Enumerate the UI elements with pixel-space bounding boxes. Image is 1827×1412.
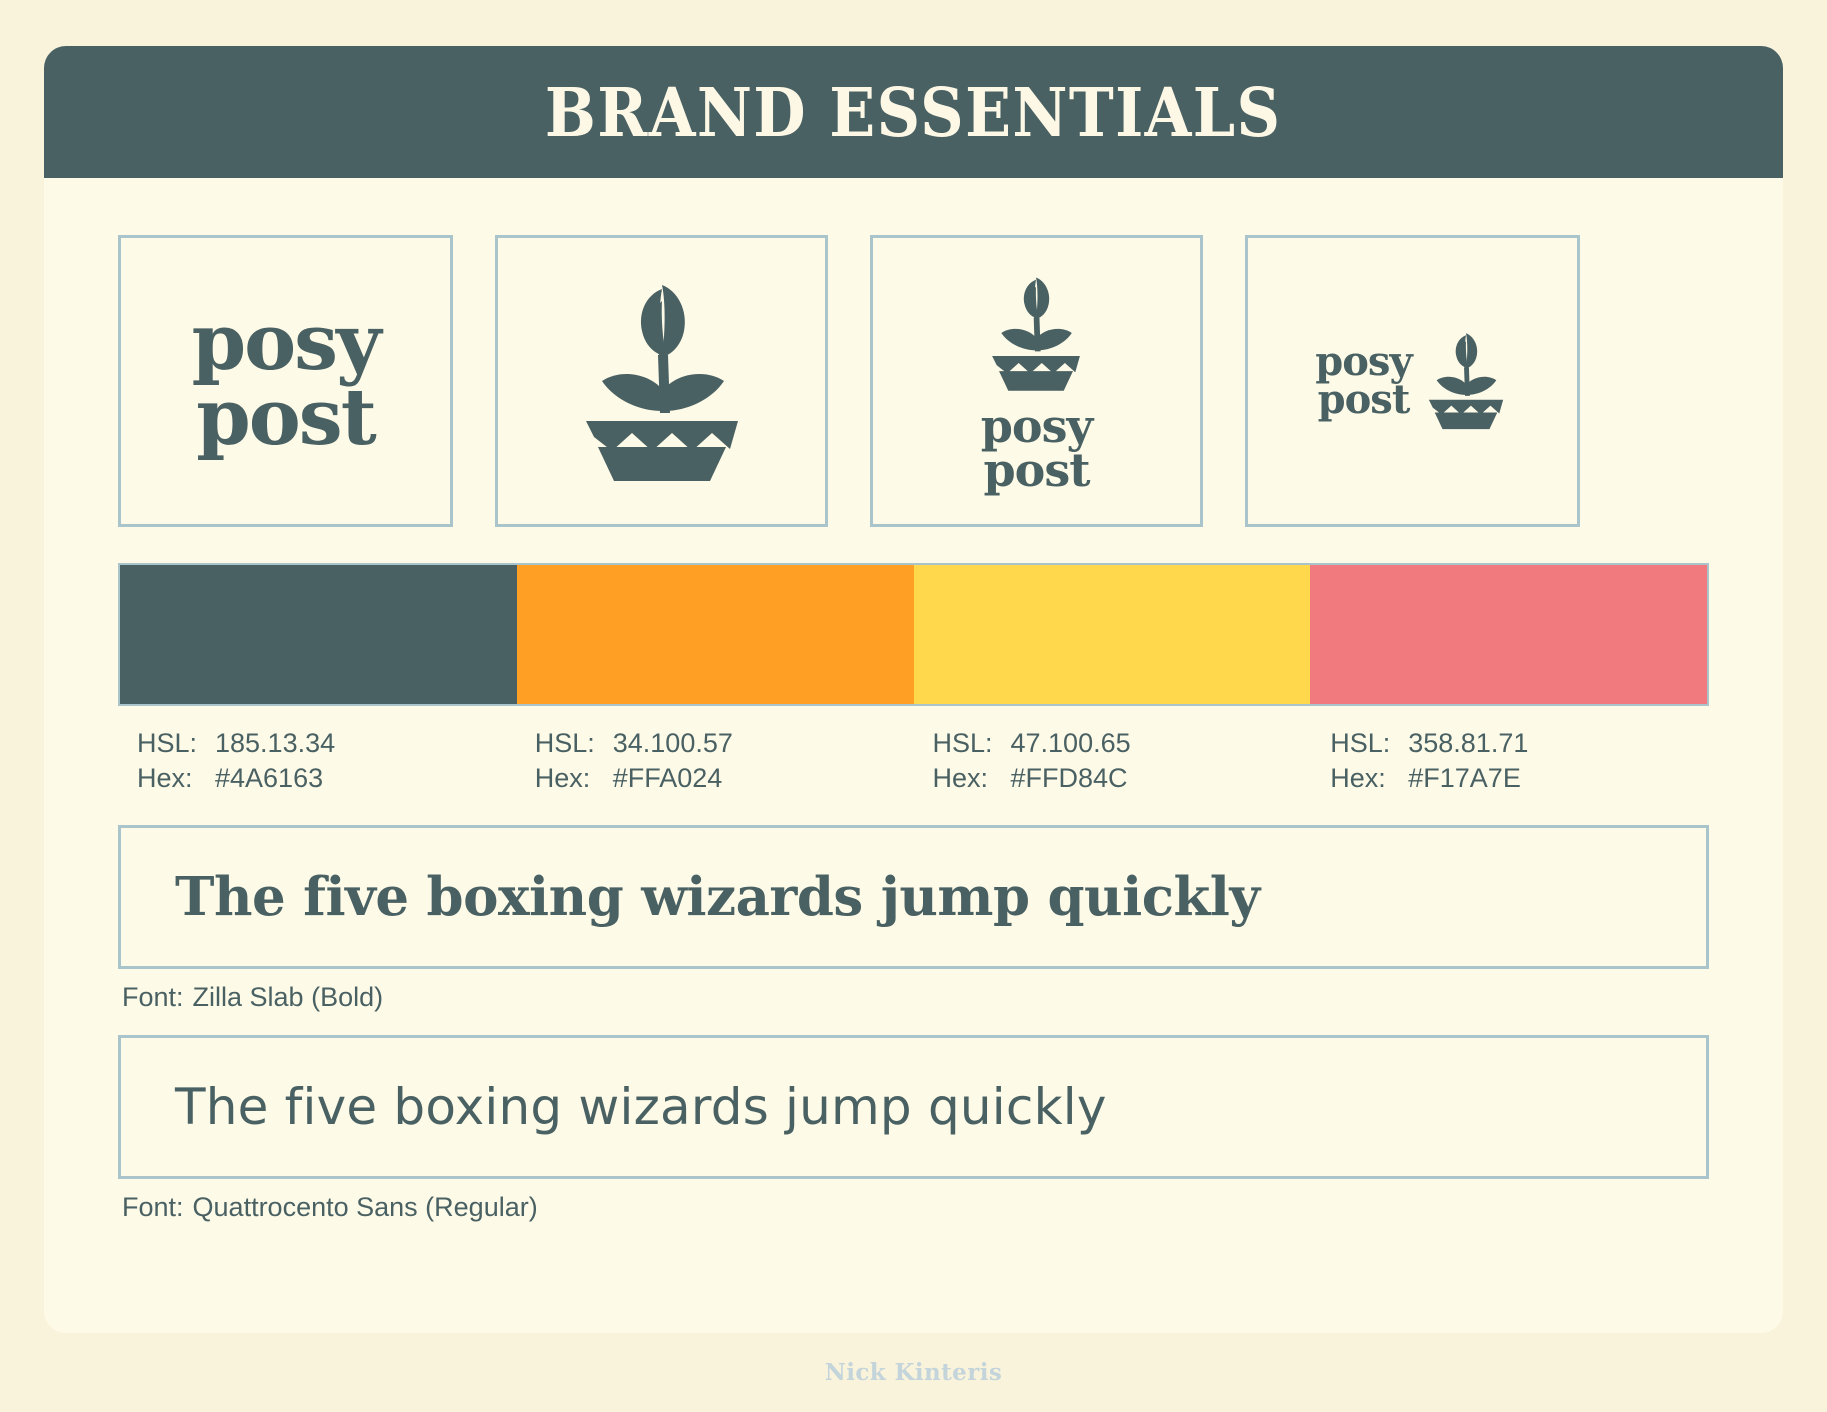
potted-tulip-icon xyxy=(984,269,1088,399)
color-swatch-coral[interactable] xyxy=(1310,565,1707,704)
color-palette-bar xyxy=(118,563,1709,706)
type-specimen-box[interactable]: The five boxing wizards jump quickly xyxy=(118,1035,1709,1179)
page-title: BRAND ESSENTIALS xyxy=(545,79,1281,146)
hsl-key: HSL: xyxy=(1330,726,1408,761)
logo-panel-icon[interactable] xyxy=(495,235,828,527)
logo-variants-row: posy post xyxy=(118,235,1709,527)
brand-card: BRAND ESSENTIALS posy post xyxy=(44,46,1783,1333)
footer-credit: Nick Kinteris xyxy=(825,1359,1002,1386)
type-specimen-secondary: The five boxing wizards jump quickly Fon… xyxy=(118,1035,1709,1223)
specimen-text: The five boxing wizards jump quickly xyxy=(175,866,1260,928)
color-label-yellow: HSL:47.100.65 Hex:#FFD84C xyxy=(914,726,1312,795)
font-caption: Font:Quattrocento Sans (Regular) xyxy=(122,1192,1709,1223)
hex-key: Hex: xyxy=(933,761,1011,796)
type-specimen-box[interactable]: The five boxing wizards jump quickly xyxy=(118,825,1709,969)
font-caption: Font:Zilla Slab (Bold) xyxy=(122,982,1709,1013)
hex-value: #4A6163 xyxy=(215,761,323,796)
wordmark-line-2: post xyxy=(981,449,1092,493)
font-caption-key: Font: xyxy=(122,982,184,1012)
color-label-coral: HSL:358.81.71 Hex:#F17A7E xyxy=(1311,726,1709,795)
wordmark-line-2: post xyxy=(1315,381,1411,419)
wordmark-line-2: post xyxy=(192,381,380,456)
vertical-lockup: posy post xyxy=(981,269,1092,492)
color-swatch-orange[interactable] xyxy=(517,565,914,704)
hsl-value: 47.100.65 xyxy=(1011,726,1131,761)
wordmark-line-1: posy xyxy=(192,306,380,381)
potted-tulip-icon xyxy=(572,271,752,491)
hex-key: Hex: xyxy=(137,761,215,796)
font-caption-value: Zilla Slab (Bold) xyxy=(193,982,384,1012)
hex-value: #F17A7E xyxy=(1408,761,1521,796)
color-swatch-slate[interactable] xyxy=(120,565,517,704)
hsl-key: HSL: xyxy=(933,726,1011,761)
hsl-key: HSL: xyxy=(137,726,215,761)
logo-panel-horizontal-lockup[interactable]: posy post xyxy=(1245,235,1580,527)
color-label-orange: HSL:34.100.57 Hex:#FFA024 xyxy=(516,726,914,795)
wordmark-text: posy post xyxy=(981,405,1092,492)
hsl-value: 34.100.57 xyxy=(613,726,733,761)
wordmark-text: posy post xyxy=(192,306,380,456)
card-body: posy post xyxy=(44,178,1783,1333)
hsl-key: HSL: xyxy=(535,726,613,761)
type-specimen-primary: The five boxing wizards jump quickly Fon… xyxy=(118,825,1709,1013)
specimen-text: The five boxing wizards jump quickly xyxy=(175,1078,1107,1136)
color-swatch-yellow[interactable] xyxy=(914,565,1311,704)
page-header: BRAND ESSENTIALS xyxy=(44,46,1783,178)
color-palette-labels: HSL:185.13.34 Hex:#4A6163 HSL:34.100.57 … xyxy=(118,726,1709,795)
font-caption-key: Font: xyxy=(122,1192,184,1222)
horizontal-lockup: posy post xyxy=(1315,326,1509,437)
hex-key: Hex: xyxy=(1330,761,1408,796)
brand-essentials-page: BRAND ESSENTIALS posy post xyxy=(0,0,1827,1412)
color-label-slate: HSL:185.13.34 Hex:#4A6163 xyxy=(118,726,516,795)
hsl-value: 358.81.71 xyxy=(1408,726,1528,761)
hex-value: #FFD84C xyxy=(1011,761,1128,796)
logo-panel-wordmark[interactable]: posy post xyxy=(118,235,453,527)
hsl-value: 185.13.34 xyxy=(215,726,335,761)
logo-panel-vertical-lockup[interactable]: posy post xyxy=(870,235,1203,527)
wordmark-text: posy post xyxy=(1315,343,1411,419)
font-caption-value: Quattrocento Sans (Regular) xyxy=(193,1192,538,1222)
footer: Nick Kinteris xyxy=(0,1333,1827,1412)
potted-tulip-icon xyxy=(1422,326,1510,437)
hex-key: Hex: xyxy=(535,761,613,796)
hex-value: #FFA024 xyxy=(613,761,723,796)
